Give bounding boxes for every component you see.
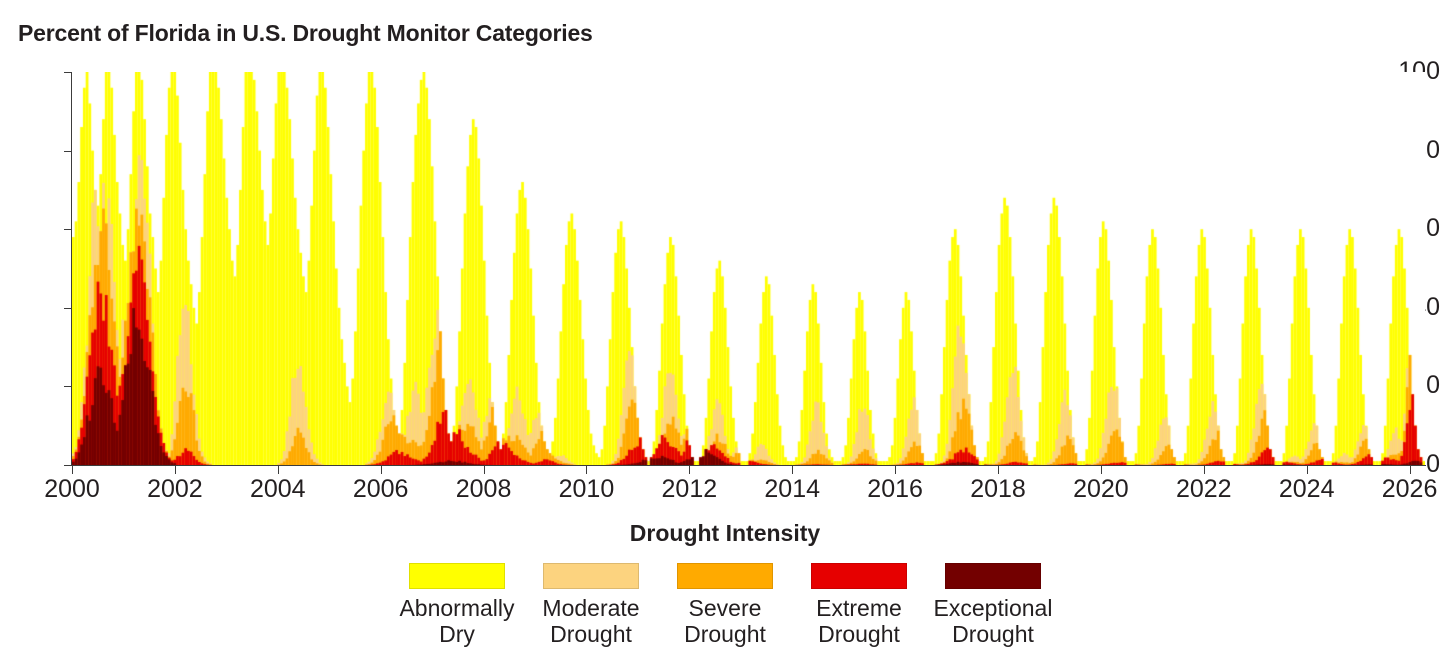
legend-item-d3: Extreme Drought: [792, 563, 926, 648]
legend-item-d2: Severe Drought: [658, 563, 792, 648]
legend-label-d3: Extreme Drought: [816, 596, 902, 648]
legend-item-d0: Abnormally Dry: [390, 563, 524, 648]
x-axis-tick: [998, 466, 999, 474]
x-axis-tick: [72, 466, 73, 474]
x-axis-tick: [484, 466, 485, 474]
x-axis-tick: [1307, 466, 1308, 474]
y-axis-tick: [64, 308, 71, 309]
legend-label-d0: Abnormally Dry: [399, 596, 514, 648]
x-axis-tick: [1204, 466, 1205, 474]
x-axis-tick: [1410, 466, 1411, 474]
legend-label-d1: Moderate Drought: [542, 596, 639, 648]
y-axis-tick: [64, 151, 71, 152]
x-axis-line: [71, 465, 1426, 466]
y-axis-tick: [64, 465, 71, 466]
stacked-area-plot: [72, 72, 1425, 465]
legend-items: Abnormally DryModerate DroughtSevere Dro…: [10, 563, 1440, 648]
x-axis-tick: [586, 466, 587, 474]
legend-label-d2: Severe Drought: [684, 596, 766, 648]
page-title: Percent of Florida in U.S. Drought Monit…: [18, 20, 593, 47]
legend-swatch-d2: [677, 563, 773, 589]
x-axis-tick: [175, 466, 176, 474]
x-axis-tick: [1101, 466, 1102, 474]
legend-swatch-d4: [945, 563, 1041, 589]
x-axis-tick: [381, 466, 382, 474]
y-axis-tick: [64, 386, 71, 387]
legend-label-d4: Exceptional Drought: [934, 596, 1053, 648]
y-axis-tick: [64, 229, 71, 230]
drought-chart-figure: Percent of Florida in U.S. Drought Monit…: [0, 0, 1440, 666]
legend-title: Drought Intensity: [10, 520, 1440, 547]
y-axis-tick: [64, 72, 71, 73]
legend-item-d1: Moderate Drought: [524, 563, 658, 648]
legend-swatch-d0: [409, 563, 505, 589]
legend: Drought Intensity Abnormally DryModerate…: [0, 520, 1440, 648]
legend-swatch-d1: [543, 563, 639, 589]
x-axis-tick: [895, 466, 896, 474]
x-axis-tick: [792, 466, 793, 474]
legend-item-d4: Exceptional Drought: [926, 563, 1060, 648]
plot-area: [72, 72, 1425, 465]
x-axis-tick: [278, 466, 279, 474]
legend-swatch-d3: [811, 563, 907, 589]
x-axis-tick: [689, 466, 690, 474]
x-axis-tick-label: 2026: [1350, 477, 1440, 502]
